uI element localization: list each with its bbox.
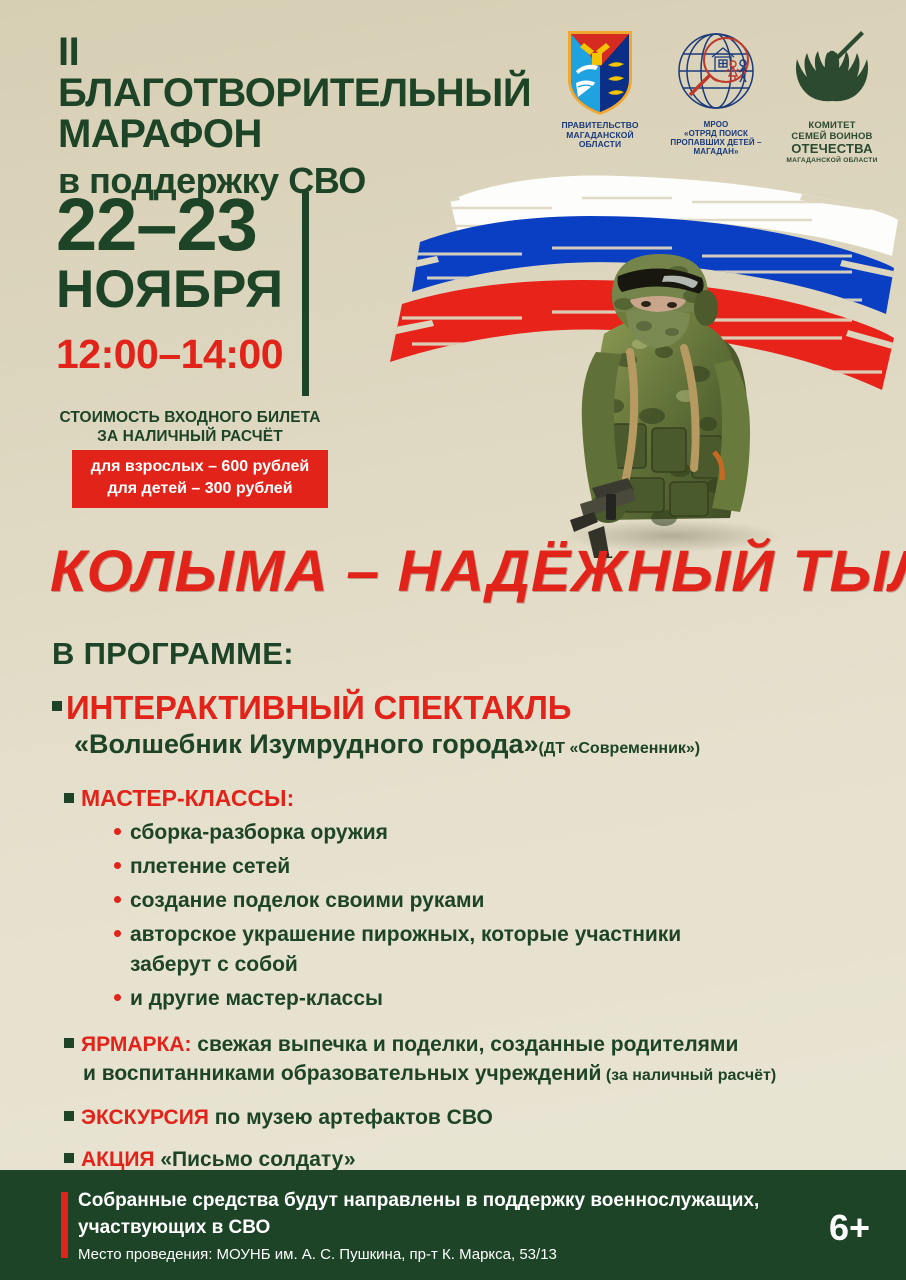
list-item: и другие мастер-классы	[114, 984, 882, 1014]
footer-venue: Место проведения: МОУНБ им. А. С. Пушкин…	[78, 1245, 778, 1265]
logo-committee-caption: КОМИТЕТ СЕМЕЙ ВОИНОВ ОТЕЧЕСТВА МАГАДАНСК…	[786, 121, 877, 164]
spectacle-subtitle: «Волшебник Изумрудного города»	[74, 729, 539, 759]
footer-line-2: участвующих в СВО	[78, 1214, 778, 1241]
poster: II БЛАГОТВОРИТЕЛЬНЫЙ МАРАФОН в поддержку…	[0, 0, 906, 1280]
program-blocks: ЯРМАРКА: свежая выпечка и поделки, созда…	[64, 1030, 882, 1174]
fair-keyword: ЯРМАРКА:	[81, 1033, 191, 1056]
list-item: сборка-разборка оружия	[114, 818, 882, 848]
square-bullet-icon	[64, 1153, 74, 1163]
masterclasses-items: сборка-разборка оружия плетение сетей со…	[74, 818, 882, 1014]
masterclass-text-continuation: заберут с собой	[130, 950, 882, 980]
spectacle-subtitle-row: «Волшебник Изумрудного города»(ДТ «Совре…	[74, 729, 882, 764]
list-item: создание поделок своими руками	[114, 886, 882, 916]
logo-magadan-government: ПРАВИТЕЛЬСТВО МАГАДАНСКОЙ ОБЛАСТИ	[548, 26, 652, 150]
title-line-1: II БЛАГОТВОРИТЕЛЬНЫЙ	[58, 32, 538, 114]
list-item: авторское украшение пирожных, которые уч…	[114, 920, 882, 980]
masterclass-text: плетение сетей	[130, 855, 290, 878]
fair-second-line-row: и воспитанниками образовательных учрежде…	[83, 1059, 882, 1090]
footer-accent-bar	[61, 1192, 68, 1258]
square-bullet-icon	[64, 793, 74, 803]
program-heading: В ПРОГРАММЕ:	[52, 636, 294, 672]
spectacle-venue-note: (ДТ «Современник»)	[539, 740, 701, 757]
ticket-price-heading: СТОИМОСТЬ ВХОДНОГО БИЛЕТА ЗА НАЛИЧНЫЙ РА…	[56, 408, 324, 446]
program-item-spectacle: ИНТЕРАКТИВНЫЙ СПЕКТАКЛЬ	[52, 690, 882, 726]
event-month: НОЯБРЯ	[56, 262, 306, 318]
logo-magadan-government-caption: ПРАВИТЕЛЬСТВО МАГАДАНСКОЙ ОБЛАСТИ	[548, 121, 652, 150]
logo-mroo-search-squad: МРОО «ОТРЯД ПОИСК ПРОПАВШИХ ДЕТЕЙ – МАГА…	[664, 26, 768, 157]
masterclasses-heading: МАСТЕР-КЛАССЫ:	[81, 785, 294, 811]
dot-bullet-icon	[114, 828, 121, 835]
event-time: 12:00–14:00	[56, 332, 306, 376]
fair-second-line: и воспитанниками образовательных учрежде…	[83, 1062, 601, 1085]
spectacle-title: ИНТЕРАКТИВНЫЙ СПЕКТАКЛЬ	[66, 689, 571, 726]
action-keyword: АКЦИЯ	[81, 1148, 155, 1171]
masterclass-text: авторское украшение пирожных, которые уч…	[130, 923, 681, 946]
masterclass-text: создание поделок своими руками	[130, 889, 484, 912]
square-bullet-icon	[64, 1038, 74, 1048]
motherland-statue-laurel-icon	[786, 26, 878, 118]
dot-bullet-icon	[114, 994, 121, 1001]
action-text: «Письмо солдату»	[155, 1148, 356, 1171]
fair-text: свежая выпечка и поделки, созданные роди…	[191, 1033, 738, 1056]
vertical-divider	[302, 192, 309, 396]
russian-flag-brushstroke-with-soldier-image	[372, 168, 906, 558]
ticket-head-line-2: ЗА НАЛИЧНЫЙ РАСЧЁТ	[56, 427, 324, 446]
footer-text: Собранные средства будут направлены в по…	[78, 1187, 778, 1265]
logo-committee-warrior-families: КОМИТЕТ СЕМЕЙ ВОИНОВ ОТЕЧЕСТВА МАГАДАНСК…	[780, 26, 884, 164]
masterclass-text: сборка-разборка оружия	[130, 821, 388, 844]
globe-search-children-icon	[674, 26, 758, 118]
event-date-block: 22–23 НОЯБРЯ 12:00–14:00	[56, 188, 306, 376]
excursion-text: по музею артефактов СВО	[209, 1106, 493, 1129]
mroo-cap-4: МАГАДАН»	[670, 148, 761, 157]
gov-cap-2: МАГАДАНСКОЙ ОБЛАСТИ	[548, 131, 652, 150]
square-bullet-icon	[52, 701, 62, 711]
list-item: плетение сетей	[114, 852, 882, 882]
ticket-head-line-1: СТОИМОСТЬ ВХОДНОГО БИЛЕТА	[56, 408, 324, 427]
age-rating-badge: 6+	[829, 1210, 870, 1246]
hero-illustration	[372, 168, 906, 558]
event-dates: 22–23	[56, 188, 306, 262]
footer-line-1: Собранные средства будут направлены в по…	[78, 1187, 778, 1214]
footer: Собранные средства будут направлены в по…	[0, 1170, 906, 1280]
square-bullet-icon	[64, 1111, 74, 1121]
kom-cap-4: МАГАДАНСКОЙ ОБЛАСТИ	[786, 157, 877, 164]
logo-mroo-caption: МРОО «ОТРЯД ПОИСК ПРОПАВШИХ ДЕТЕЙ – МАГА…	[670, 121, 761, 157]
slogan: КОЛЫМА – НАДЁЖНЫЙ ТЫЛ!	[50, 538, 897, 605]
program-item-fair: ЯРМАРКА: свежая выпечка и поделки, созда…	[64, 1030, 882, 1090]
kom-cap-3: ОТЕЧЕСТВА	[786, 142, 877, 157]
fair-note: (за наличный расчёт)	[601, 1067, 776, 1084]
masterclass-text: и другие мастер-классы	[130, 987, 383, 1010]
dot-bullet-icon	[114, 896, 121, 903]
title-line-2: МАРАФОН	[58, 114, 538, 155]
ticket-price-adults: для взрослых – 600 рублей	[78, 456, 322, 478]
ticket-price-children: для детей – 300 рублей	[78, 478, 322, 500]
logo-row: ПРАВИТЕЛЬСТВО МАГАДАНСКОЙ ОБЛАСТИ	[548, 26, 884, 164]
ticket-price-box: для взрослых – 600 рублей для детей – 30…	[72, 450, 328, 508]
dot-bullet-icon	[114, 862, 121, 869]
dot-bullet-icon	[114, 930, 121, 937]
masterclasses-heading-row: МАСТЕР-КЛАССЫ:	[64, 784, 882, 812]
magadan-coat-of-arms-icon	[562, 26, 638, 118]
excursion-keyword: ЭКСКУРСИЯ	[81, 1106, 209, 1129]
program-list: ИНТЕРАКТИВНЫЙ СПЕКТАКЛЬ «Волшебник Изумр…	[52, 690, 882, 1187]
program-item-excursion: ЭКСКУРСИЯ по музею артефактов СВО	[64, 1103, 882, 1132]
